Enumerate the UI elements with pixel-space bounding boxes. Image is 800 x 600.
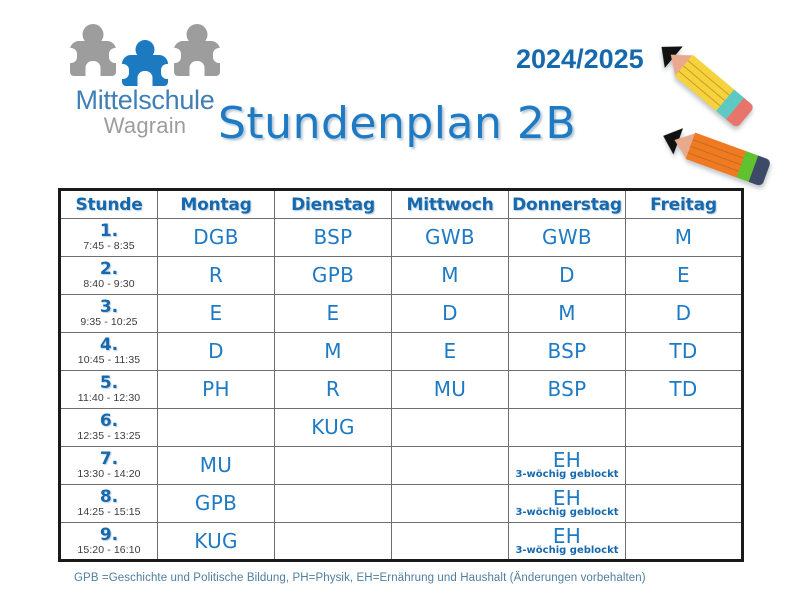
subject-cell-freitag-7[interactable] — [626, 447, 743, 485]
subject-label: M — [392, 265, 508, 286]
hour-cell: 6.12:35 - 13:25 — [60, 409, 158, 447]
subject-cell-freitag-6[interactable] — [626, 409, 743, 447]
subject-cell-montag-9[interactable]: KUG — [158, 523, 275, 561]
table-row: 3.9:35 - 10:25EEDMD — [60, 295, 743, 333]
subject-label: MU — [392, 379, 508, 400]
subject-label: E — [275, 303, 391, 324]
hour-time-range: 15:20 - 16:10 — [61, 545, 157, 556]
subject-cell-montag-2[interactable]: R — [158, 257, 275, 295]
logo-school-location: Wagrain — [55, 114, 235, 137]
timetable-body: 1.7:45 - 8:35DGBBSPGWBGWBM2.8:40 - 9:30R… — [60, 219, 743, 561]
subject-cell-montag-4[interactable]: D — [158, 333, 275, 371]
legend-note: GPB =Geschichte und Politische Bildung, … — [74, 572, 646, 584]
subject-label: M — [275, 341, 391, 362]
logo-person-notch-right — [109, 48, 116, 63]
hour-time-range: 7:45 - 8:35 — [61, 241, 157, 252]
subject-label: M — [509, 303, 625, 324]
hour-number: 1. — [61, 223, 157, 240]
subject-cell-freitag-3[interactable]: D — [626, 295, 743, 333]
subject-label: TD — [626, 379, 741, 400]
subject-label: EH — [509, 450, 625, 471]
subject-cell-donnerstag-4[interactable]: BSP — [509, 333, 626, 371]
hour-number: 5. — [61, 375, 157, 392]
pencil-stripe — [688, 60, 730, 95]
hour-time-range: 9:35 - 10:25 — [61, 317, 157, 328]
subject-cell-donnerstag-1[interactable]: GWB — [509, 219, 626, 257]
table-row: 8.14:25 - 15:15GPBEH3-wöchig geblockt — [60, 485, 743, 523]
hour-cell: 2.8:40 - 9:30 — [60, 257, 158, 295]
hour-cell: 5.11:40 - 12:30 — [60, 371, 158, 409]
hour-time-range: 13:30 - 14:20 — [61, 469, 157, 480]
table-row: 4.10:45 - 11:35DMEBSPTD — [60, 333, 743, 371]
hour-time-range: 11:40 - 12:30 — [61, 393, 157, 404]
column-header-freitag: Freitag — [626, 190, 743, 219]
subject-label: PH — [158, 379, 274, 400]
subject-cell-dienstag-3[interactable]: E — [275, 295, 392, 333]
table-row: 5.11:40 - 12:30PHRMUBSPTD — [60, 371, 743, 409]
logo-person-notch-right — [161, 64, 168, 79]
logo-school-name: Mittelschule — [55, 86, 235, 114]
hour-time-range: 8:40 - 9:30 — [61, 279, 157, 290]
hour-number: 7. — [61, 451, 157, 468]
subject-label: BSP — [509, 341, 625, 362]
subject-label: BSP — [275, 227, 391, 248]
subject-label: BSP — [509, 379, 625, 400]
subject-label: D — [158, 341, 274, 362]
subject-cell-freitag-9[interactable] — [626, 523, 743, 561]
subject-cell-freitag-5[interactable]: TD — [626, 371, 743, 409]
subject-label: GPB — [275, 265, 391, 286]
subject-label: D — [509, 265, 625, 286]
hour-cell: 4.10:45 - 11:35 — [60, 333, 158, 371]
subject-label: D — [392, 303, 508, 324]
subject-cell-dienstag-4[interactable]: M — [275, 333, 392, 371]
subject-label: MU — [158, 455, 274, 476]
logo-person-center-icon — [122, 40, 168, 86]
table-row: 6.12:35 - 13:25KUG — [60, 409, 743, 447]
subject-cell-donnerstag-5[interactable]: BSP — [509, 371, 626, 409]
subject-cell-donnerstag-3[interactable]: M — [509, 295, 626, 333]
subject-cell-freitag-2[interactable]: E — [626, 257, 743, 295]
subject-cell-freitag-8[interactable] — [626, 485, 743, 523]
subject-label: E — [626, 265, 741, 286]
subject-cell-dienstag-9[interactable] — [275, 523, 392, 561]
hour-cell: 1.7:45 - 8:35 — [60, 219, 158, 257]
subject-cell-donnerstag-9[interactable]: EH3-wöchig geblockt — [509, 523, 626, 561]
subject-cell-mittwoch-3[interactable]: D — [392, 295, 509, 333]
hour-cell: 3.9:35 - 10:25 — [60, 295, 158, 333]
hour-number: 9. — [61, 527, 157, 544]
subject-cell-donnerstag-2[interactable]: D — [509, 257, 626, 295]
hour-number: 4. — [61, 337, 157, 354]
subject-label: R — [275, 379, 391, 400]
school-logo: Mittelschule Wagrain — [55, 24, 235, 149]
hour-number: 2. — [61, 261, 157, 278]
subject-note: 3-wöchig geblockt — [509, 508, 625, 519]
subject-label: EH — [509, 526, 625, 547]
subject-cell-mittwoch-5[interactable]: MU — [392, 371, 509, 409]
subject-cell-donnerstag-8[interactable]: EH3-wöchig geblockt — [509, 485, 626, 523]
subject-cell-montag-1[interactable]: DGB — [158, 219, 275, 257]
table-row: 1.7:45 - 8:35DGBBSPGWBGWBM — [60, 219, 743, 257]
subject-note: 3-wöchig geblockt — [509, 470, 625, 481]
subject-label: GPB — [158, 493, 274, 514]
logo-person-left-icon — [70, 24, 116, 76]
subject-label: D — [626, 303, 741, 324]
subject-cell-montag-6[interactable] — [158, 409, 275, 447]
column-header-montag: Montag — [158, 190, 275, 219]
hour-time-range: 12:35 - 13:25 — [61, 431, 157, 442]
logo-person-right-icon — [174, 24, 220, 76]
logo-person-legs-gap — [190, 61, 205, 76]
hour-cell: 9.15:20 - 16:10 — [60, 523, 158, 561]
subject-label: GWB — [509, 227, 625, 248]
subject-label: E — [392, 341, 508, 362]
page-title: Stundenplan 2B — [218, 98, 576, 149]
column-header-donnerstag: Donnerstag — [509, 190, 626, 219]
pencil-barrel — [686, 133, 746, 178]
table-row: 2.8:40 - 9:30RGPBMDE — [60, 257, 743, 295]
hour-number: 3. — [61, 299, 157, 316]
hour-time-range: 14:25 - 15:15 — [61, 507, 157, 518]
column-header-dienstag: Dienstag — [275, 190, 392, 219]
subject-cell-freitag-4[interactable]: TD — [626, 333, 743, 371]
subject-cell-mittwoch-4[interactable]: E — [392, 333, 509, 371]
subject-label: E — [158, 303, 274, 324]
subject-cell-mittwoch-8[interactable] — [392, 485, 509, 523]
hour-cell: 7.13:30 - 14:20 — [60, 447, 158, 485]
hour-number: 8. — [61, 489, 157, 506]
school-year-label: 2024/2025 — [516, 44, 644, 75]
hour-cell: 8.14:25 - 15:15 — [60, 485, 158, 523]
subject-cell-montag-7[interactable]: MU — [158, 447, 275, 485]
pencil-stripe — [679, 71, 721, 106]
subject-label: DGB — [158, 227, 274, 248]
subject-cell-dienstag-6[interactable]: KUG — [275, 409, 392, 447]
subject-cell-donnerstag-7[interactable]: EH3-wöchig geblockt — [509, 447, 626, 485]
timetable-header: Stunde Montag Dienstag Mittwoch Donnerst… — [60, 190, 743, 219]
header-row: Stunde Montag Dienstag Mittwoch Donnerst… — [60, 190, 743, 219]
subject-label: R — [158, 265, 274, 286]
subject-cell-donnerstag-6[interactable] — [509, 409, 626, 447]
column-header-stunde: Stunde — [60, 190, 158, 219]
header-area: Mittelschule Wagrain 2024/2025 Stundenpl… — [0, 0, 800, 180]
logo-figures-group — [70, 24, 220, 82]
table-row: 7.13:30 - 14:20MUEH3-wöchig geblockt — [60, 447, 743, 485]
subject-label: KUG — [275, 417, 391, 438]
table-row: 9.15:20 - 16:10KUGEH3-wöchig geblockt — [60, 523, 743, 561]
subject-cell-dienstag-5[interactable]: R — [275, 371, 392, 409]
subject-cell-montag-3[interactable]: E — [158, 295, 275, 333]
subject-cell-dienstag-2[interactable]: GPB — [275, 257, 392, 295]
subject-cell-mittwoch-6[interactable] — [392, 409, 509, 447]
subject-label: EH — [509, 488, 625, 509]
subject-cell-dienstag-8[interactable] — [275, 485, 392, 523]
logo-person-legs-gap — [138, 71, 153, 86]
logo-person-legs-gap — [86, 61, 101, 76]
pencil-stripe — [683, 66, 725, 101]
subject-cell-mittwoch-1[interactable]: GWB — [392, 219, 509, 257]
subject-cell-dienstag-1[interactable]: BSP — [275, 219, 392, 257]
hour-number: 6. — [61, 413, 157, 430]
subject-cell-mittwoch-9[interactable] — [392, 523, 509, 561]
pencil-orange-icon — [658, 123, 767, 186]
subject-cell-montag-8[interactable]: GPB — [158, 485, 275, 523]
subject-label: TD — [626, 341, 741, 362]
logo-person-notch-right — [213, 48, 220, 63]
hour-time-range: 10:45 - 11:35 — [61, 355, 157, 366]
subject-cell-dienstag-7[interactable] — [275, 447, 392, 485]
column-header-mittwoch: Mittwoch — [392, 190, 509, 219]
subject-cell-mittwoch-7[interactable] — [392, 447, 509, 485]
subject-cell-montag-5[interactable]: PH — [158, 371, 275, 409]
pencil-yellow-icon — [651, 36, 755, 130]
subject-label: KUG — [158, 531, 274, 552]
subject-label: M — [626, 227, 741, 248]
subject-note: 3-wöchig geblockt — [509, 546, 625, 557]
subject-label: GWB — [392, 227, 508, 248]
timetable: Stunde Montag Dienstag Mittwoch Donnerst… — [58, 188, 744, 562]
subject-cell-freitag-1[interactable]: M — [626, 219, 743, 257]
subject-cell-mittwoch-2[interactable]: M — [392, 257, 509, 295]
